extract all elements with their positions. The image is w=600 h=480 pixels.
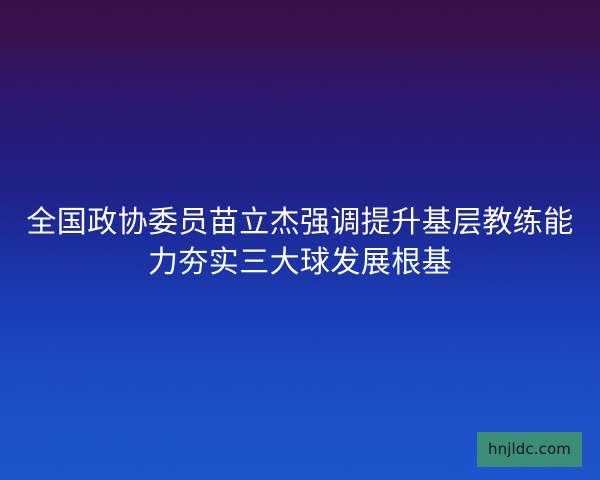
- background-gradient: [0, 0, 600, 480]
- headline-card: 全国政协委员苗立杰强调提升基层教练能力夯实三大球发展根基 hnjldc.com: [0, 0, 600, 480]
- watermark-label: hnjldc.com: [488, 442, 571, 457]
- watermark-badge: hnjldc.com: [477, 432, 582, 467]
